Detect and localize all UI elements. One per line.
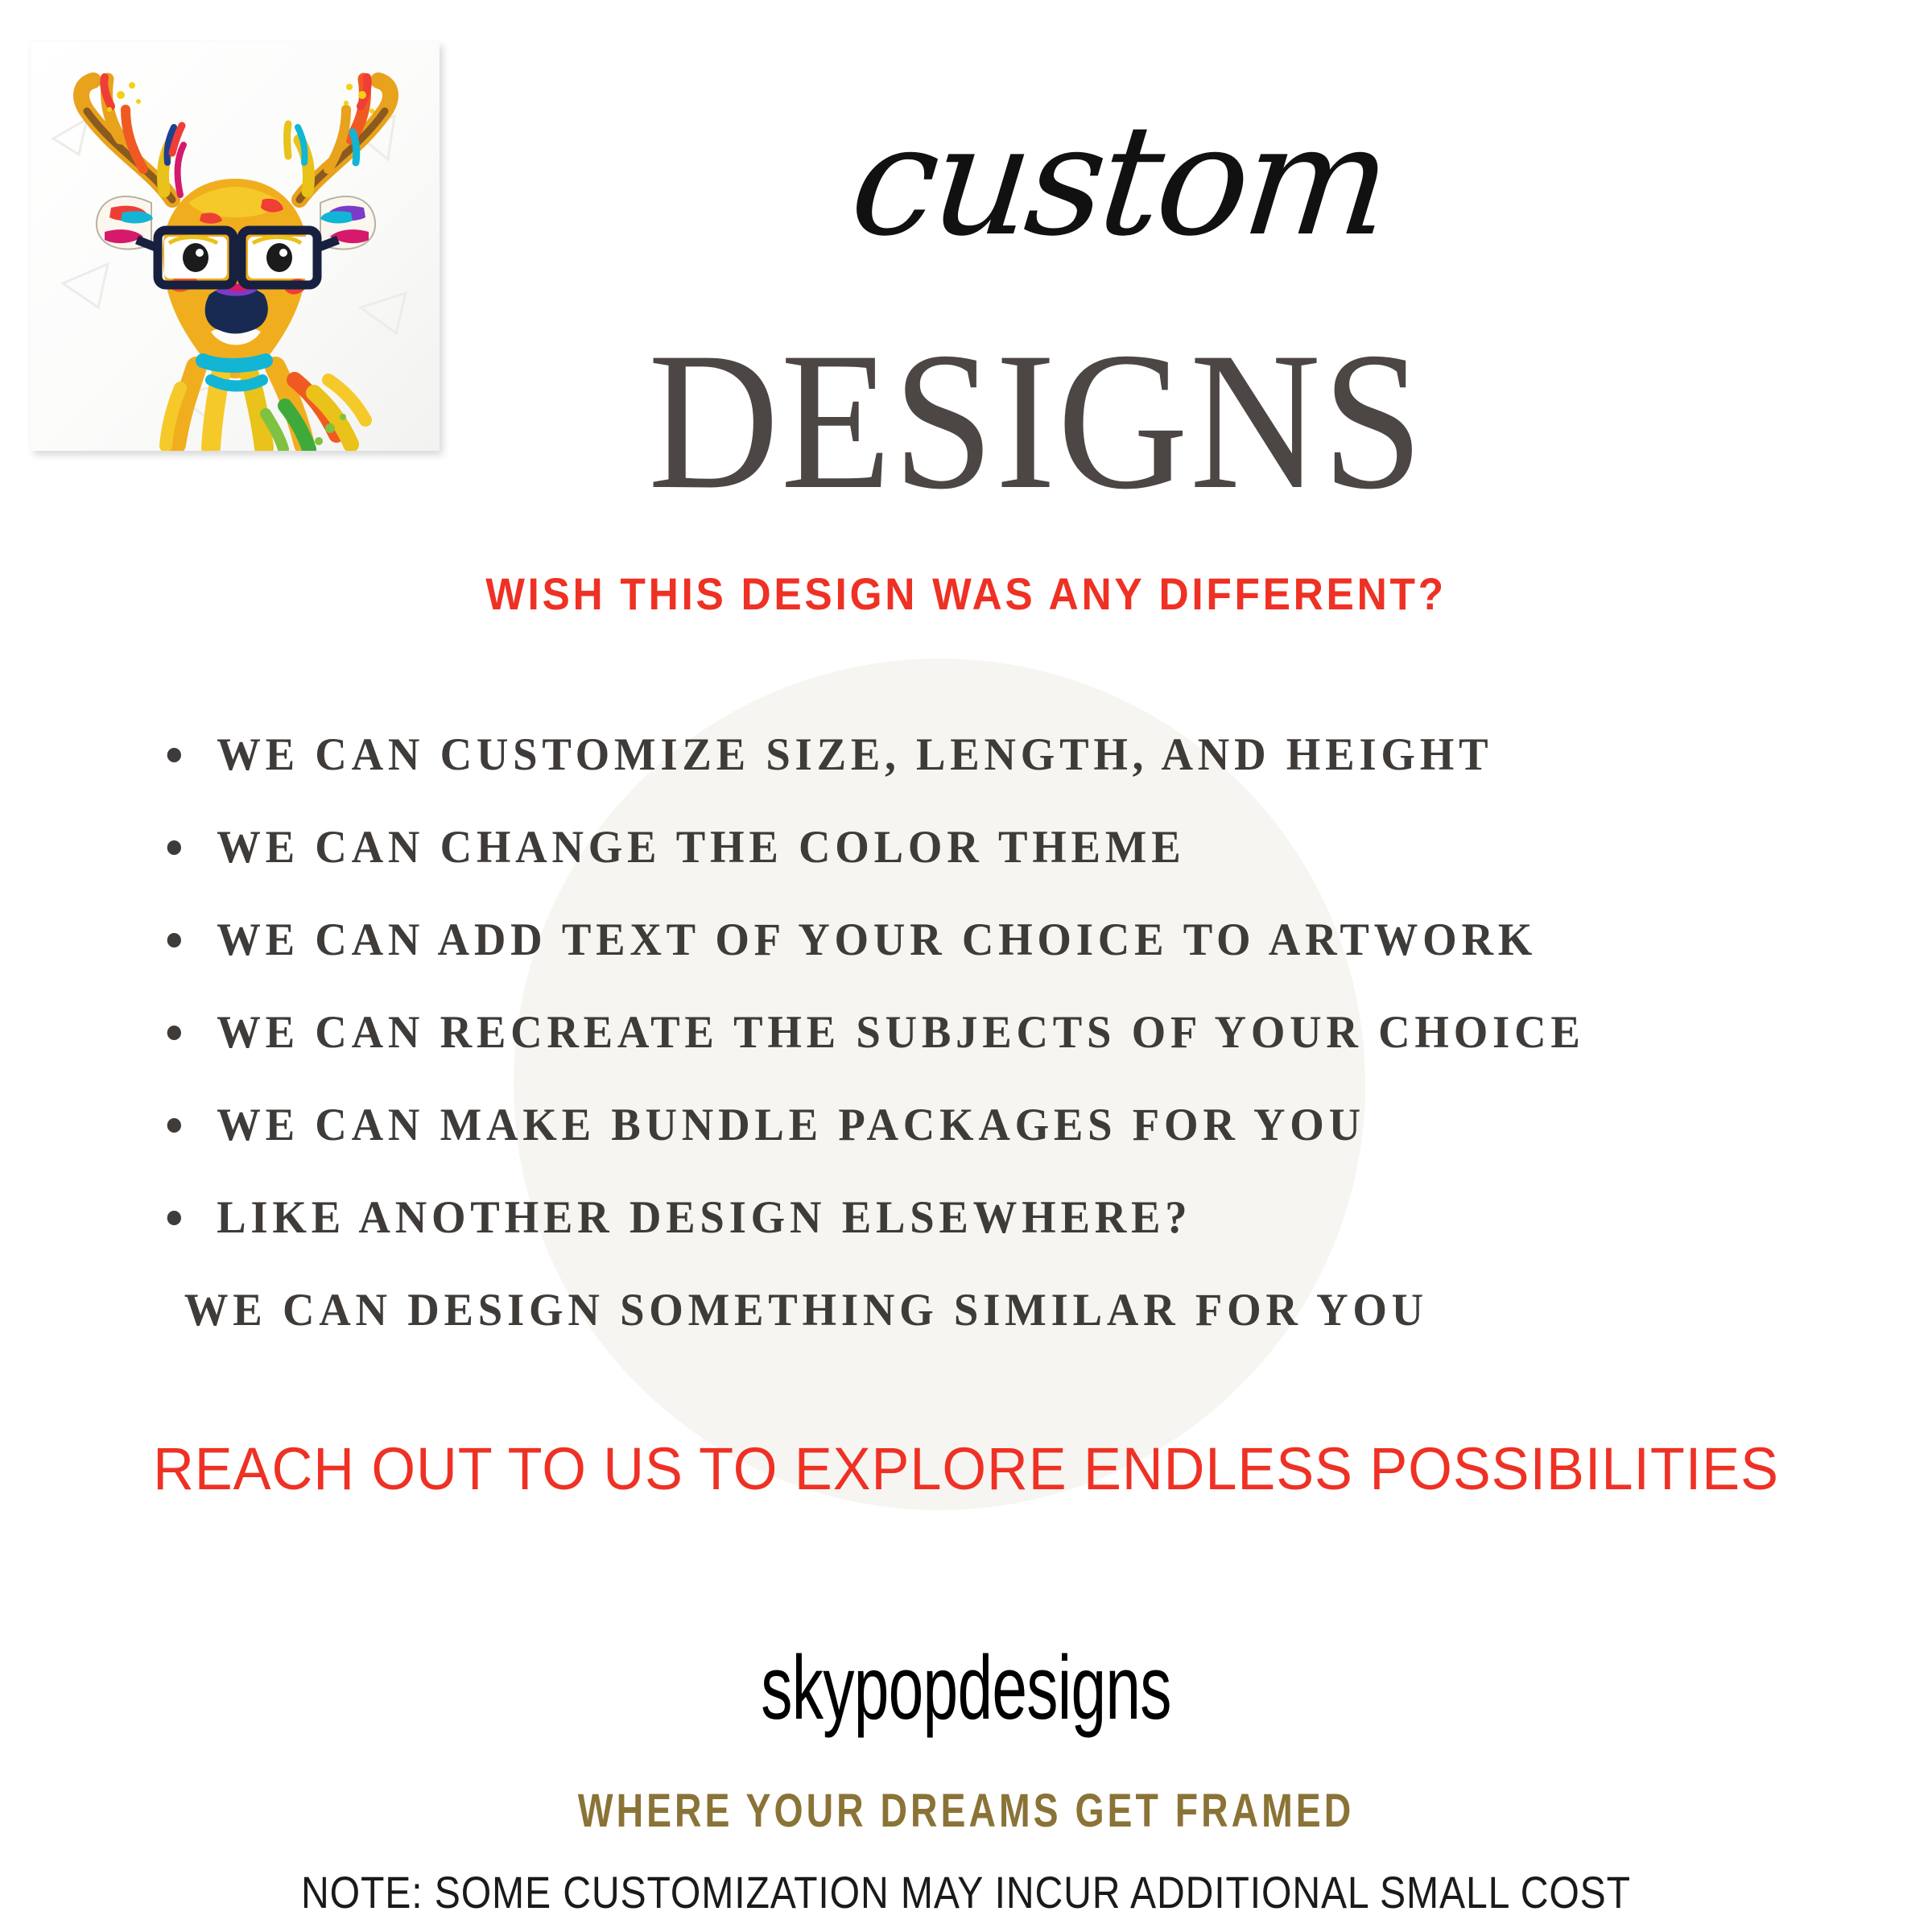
list-item: WE CAN CHANGE THE COLOR THEME <box>161 801 1784 894</box>
subtitle-question: WISH THIS DESIGN WAS ANY DIFFERENT? <box>77 568 1855 620</box>
bullet-dot-icon <box>167 1026 181 1040</box>
bullet-dot-icon <box>167 1211 181 1225</box>
bullet-dot-icon <box>167 1118 181 1133</box>
custom-designs-poster: custom DESIGNS WISH THIS DESIGN WAS ANY … <box>0 0 1932 1932</box>
list-item-label: WE CAN CHANGE THE COLOR THEME <box>217 821 1185 873</box>
list-item: WE CAN CUSTOMIZE SIZE, LENGTH, AND HEIGH… <box>161 708 1784 801</box>
list-item: WE CAN RECREATE THE SUBJECTS OF YOUR CHO… <box>161 986 1784 1079</box>
bullet-dot-icon <box>167 748 181 762</box>
brand-tagline: WHERE YOUR DREAMS GET FRAMED <box>193 1784 1739 1838</box>
list-item-label: WE CAN CUSTOMIZE SIZE, LENGTH, AND HEIGH… <box>217 729 1492 781</box>
list-item-label: WE CAN ADD TEXT OF YOUR CHOICE TO ARTWOR… <box>217 914 1537 966</box>
list-item: LIKE ANOTHER DESIGN ELSEWHERE? <box>161 1171 1784 1264</box>
list-item-label: WE CAN RECREATE THE SUBJECTS OF YOUR CHO… <box>217 1006 1585 1059</box>
footnote: NOTE: SOME CUSTOMIZATION MAY INCUR ADDIT… <box>135 1866 1797 1918</box>
script-title: custom <box>0 105 1932 258</box>
page-title: DESIGNS <box>77 322 1855 519</box>
brand-logo-text: skypopdesigns <box>290 1636 1642 1740</box>
list-item-continuation: WE CAN DESIGN SOMETHING SIMILAR FOR YOU <box>161 1264 1784 1356</box>
list-item: WE CAN ADD TEXT OF YOUR CHOICE TO ARTWOR… <box>161 894 1784 986</box>
bullet-dot-icon <box>167 933 181 947</box>
list-item: WE CAN MAKE BUNDLE PACKAGES FOR YOU <box>161 1079 1784 1171</box>
list-item-label: WE CAN MAKE BUNDLE PACKAGES FOR YOU <box>217 1099 1365 1151</box>
bullet-dot-icon <box>167 840 181 855</box>
list-item-label: WE CAN DESIGN SOMETHING SIMILAR FOR YOU <box>184 1284 1428 1336</box>
list-item-label: LIKE ANOTHER DESIGN ELSEWHERE? <box>217 1191 1191 1244</box>
cta-text: REACH OUT TO US TO EXPLORE ENDLESS POSSI… <box>48 1435 1884 1503</box>
feature-list: WE CAN CUSTOMIZE SIZE, LENGTH, AND HEIGH… <box>161 708 1851 1356</box>
